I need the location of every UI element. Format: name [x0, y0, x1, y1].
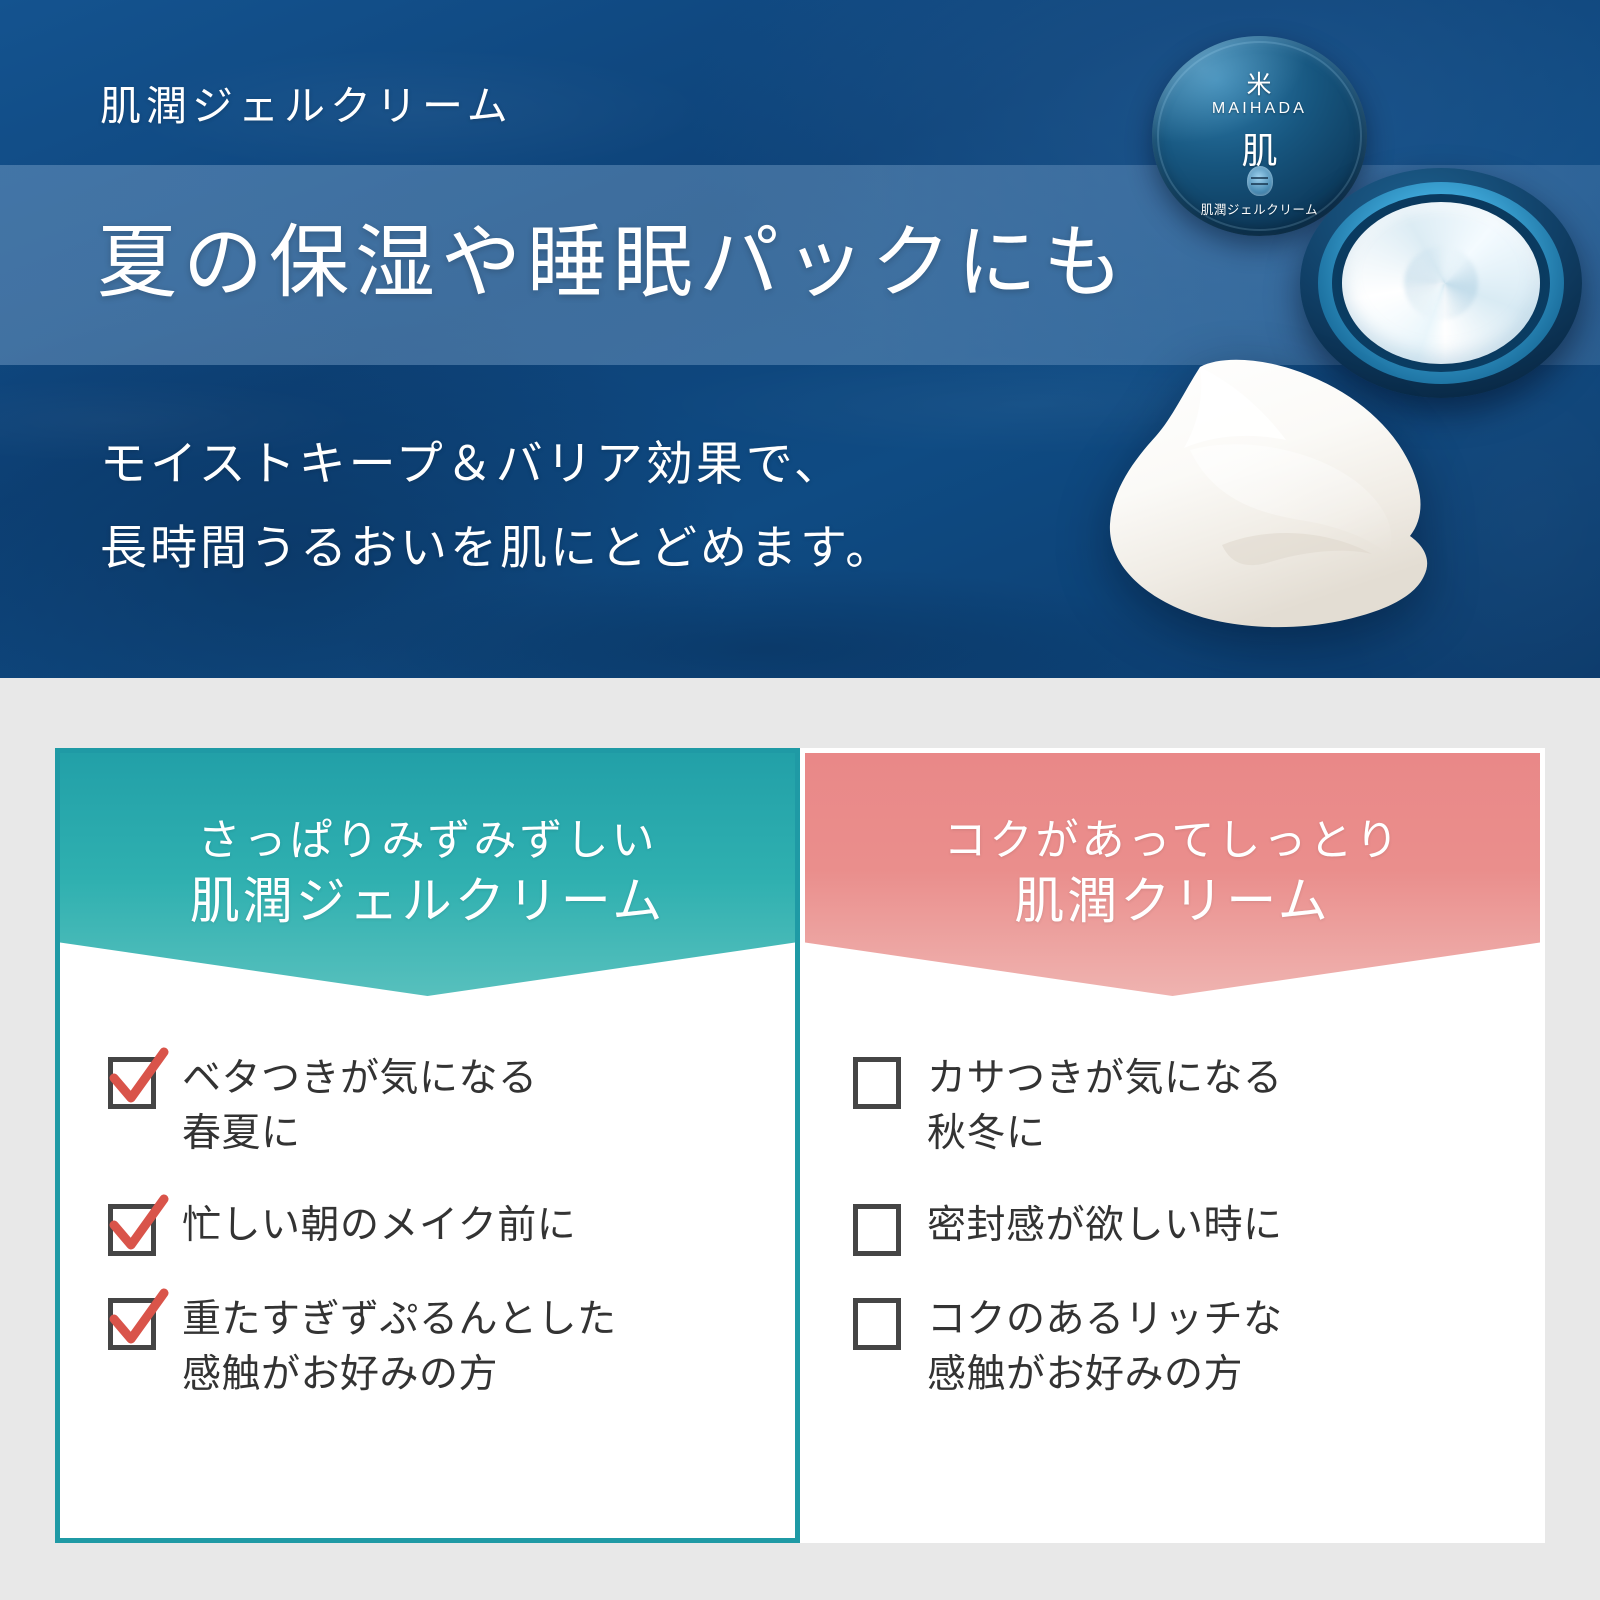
list-item-text: コクのあるリッチな 感触がお好みの方 [927, 1292, 1283, 1403]
card-subtitle: コクがあってしっとり [944, 817, 1402, 868]
checkmark-icon [104, 1046, 172, 1114]
list-item-line-2: 春夏に [182, 1106, 538, 1161]
list-item[interactable]: カサつきが気になる 秋冬に [853, 1051, 1540, 1162]
card-header-gel-cream: さっぱりみずみずしい 肌潤ジェルクリーム [60, 753, 795, 996]
checklist-cream: カサつきが気になる 秋冬に 密封感が欲しい時に コクのあるリッチな 感触がお好み… [805, 996, 1540, 1403]
card-title: 肌潤クリーム [1014, 871, 1331, 932]
hero-headline: 夏の保湿や睡眠パックにも [97, 220, 1129, 308]
checkbox-unchecked[interactable] [853, 1204, 901, 1256]
jar-lid-kome-label: 米 [1152, 65, 1367, 101]
list-item-line-2: 感触がお好みの方 [927, 1347, 1283, 1402]
jar-lid-brand-label: MAIHADA [1152, 100, 1367, 118]
list-item-text: 忙しい朝のメイク前に [182, 1198, 576, 1253]
promo-page: 肌潤ジェルクリーム 夏の保湿や睡眠パックにも モイストキープ＆バリア効果で、 長… [0, 0, 1600, 1600]
list-item-line-2: 感触がお好みの方 [182, 1347, 617, 1402]
hero-description-line-2: 長時間うるおいを肌にとどめます。 [100, 508, 895, 592]
card-subtitle: さっぱりみずみずしい [198, 817, 658, 868]
cream-swirl [1394, 236, 1487, 329]
hero-eyebrow: 肌潤ジェルクリーム [100, 72, 513, 132]
list-item[interactable]: 重たすぎずぷるんとした 感触がお好みの方 [108, 1292, 795, 1403]
checkbox-checked[interactable] [108, 1057, 156, 1109]
list-item-text: カサつきが気になる 秋冬に [927, 1051, 1283, 1162]
list-item[interactable]: コクのあるリッチな 感触がお好みの方 [853, 1292, 1540, 1403]
list-item[interactable]: 忙しい朝のメイク前に [108, 1198, 795, 1256]
checkbox-unchecked[interactable] [853, 1057, 901, 1109]
checkbox-checked[interactable] [108, 1204, 156, 1256]
list-item[interactable]: ベタつきが気になる 春夏に [108, 1051, 795, 1162]
rice-seal-icon [1247, 166, 1273, 196]
list-item-text: 重たすぎずぷるんとした 感触がお好みの方 [182, 1292, 617, 1403]
checkbox-unchecked[interactable] [853, 1298, 901, 1350]
list-item-text: 密封感が欲しい時に [927, 1198, 1283, 1253]
hero-banner: 肌潤ジェルクリーム 夏の保湿や睡眠パックにも モイストキープ＆バリア効果で、 長… [0, 0, 1600, 678]
product-card-cream: コクがあってしっとり 肌潤クリーム カサつきが気になる 秋冬に 密封感が欲しい時… [800, 748, 1545, 1543]
cream-dollop-illustration [1072, 340, 1462, 640]
checkmark-icon [104, 1193, 172, 1261]
checkmark-icon [104, 1287, 172, 1355]
list-item-line-1: 密封感が欲しい時に [927, 1198, 1283, 1253]
hero-description-line-1: モイストキープ＆バリア効果で、 [100, 424, 895, 508]
list-item-line-1: ベタつきが気になる [182, 1051, 538, 1106]
checkbox-checked[interactable] [108, 1298, 156, 1350]
product-card-gel-cream: さっぱりみずみずしい 肌潤ジェルクリーム ベタつきが気になる 春夏に [55, 748, 800, 1543]
hero-description: モイストキープ＆バリア効果で、 長時間うるおいを肌にとどめます。 [100, 424, 895, 591]
list-item-line-1: 重たすぎずぷるんとした [182, 1292, 617, 1347]
list-item-text: ベタつきが気になる 春夏に [182, 1051, 538, 1162]
card-title: 肌潤ジェルクリーム [190, 871, 666, 932]
list-item[interactable]: 密封感が欲しい時に [853, 1198, 1540, 1256]
list-item-line-2: 秋冬に [927, 1106, 1283, 1161]
list-item-line-1: カサつきが気になる [927, 1051, 1283, 1106]
comparison-section: さっぱりみずみずしい 肌潤ジェルクリーム ベタつきが気になる 春夏に [0, 678, 1600, 1600]
list-item-line-1: 忙しい朝のメイク前に [182, 1198, 576, 1253]
list-item-line-1: コクのあるリッチな [927, 1292, 1283, 1347]
card-header-cream: コクがあってしっとり 肌潤クリーム [805, 753, 1540, 996]
checklist-gel-cream: ベタつきが気になる 春夏に 忙しい朝のメイク前に [60, 996, 795, 1403]
